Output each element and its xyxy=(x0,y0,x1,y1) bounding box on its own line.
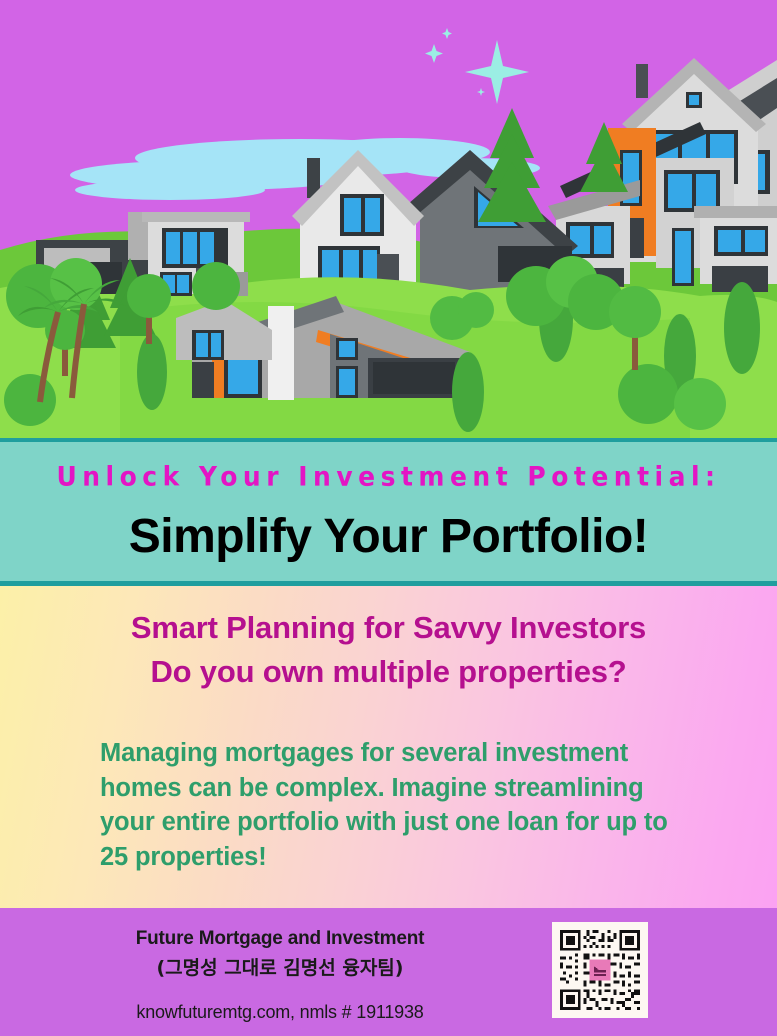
marketing-flyer: Unlock Your Investment Potential: Simpli… xyxy=(0,0,777,1036)
main-headline: Simplify Your Portfolio! xyxy=(129,509,649,564)
body-paragraph: Managing mortgages for several investmen… xyxy=(0,694,777,875)
company-name: Future Mortgage and Investment xyxy=(60,928,500,950)
subheading-line-2: Do you own multiple properties? xyxy=(0,650,777,694)
footer-band: Future Mortgage and Investment (그명성 그대로 … xyxy=(0,908,777,1036)
subheading-line-1: Smart Planning for Savvy Investors xyxy=(131,610,646,645)
eyebrow-text: Unlock Your Investment Potential: xyxy=(56,461,720,492)
body-band: Smart Planning for Savvy Investors Do yo… xyxy=(0,586,777,908)
hero-illustration xyxy=(0,0,777,438)
company-name-korean: (그명성 그대로 김명선 융자팀) xyxy=(60,953,500,980)
house-right-garage xyxy=(694,206,777,292)
headline-band: Unlock Your Investment Potential: Simpli… xyxy=(0,438,777,586)
subheading-block: Smart Planning for Savvy Investors Do yo… xyxy=(0,586,777,694)
footer-text-block: Future Mortgage and Investment (그명성 그대로 … xyxy=(60,928,500,1023)
qr-code-icon xyxy=(557,927,643,1013)
hero-artwork xyxy=(0,0,777,438)
website-and-nmls: knowfuturemtg.com, nmls # 1911938 xyxy=(60,1002,500,1023)
qr-code[interactable] xyxy=(552,922,648,1018)
